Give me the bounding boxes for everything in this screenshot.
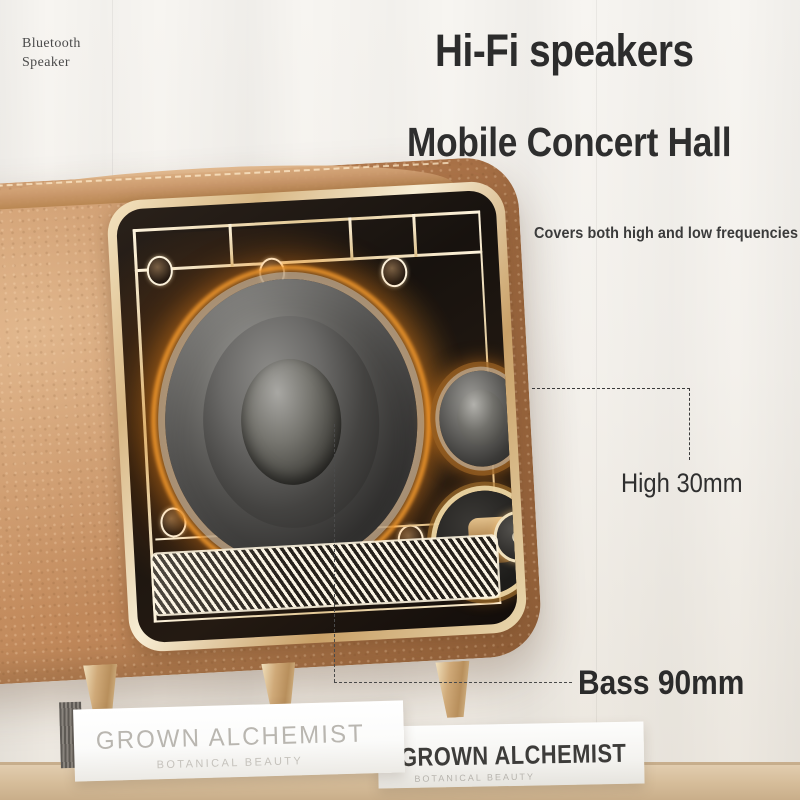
faceplate-interior	[116, 190, 519, 644]
power-icon	[509, 527, 519, 547]
product-box-front: GROWN ALCHEMIST BOTANICAL BEAUTY	[73, 700, 405, 781]
brand-label: Bluetooth Speaker	[22, 35, 81, 73]
product-box-front-subtitle: BOTANICAL BEAUTY	[156, 755, 303, 771]
headline-secondary: Mobile Concert Hall	[407, 122, 731, 163]
speaker-faceplate	[106, 180, 528, 653]
callout-line-high-vertical	[689, 388, 690, 460]
brand-label-line1: Bluetooth	[22, 35, 81, 54]
speaker-cabinet	[0, 155, 543, 687]
callout-line-high-horizontal	[532, 388, 690, 389]
headline-primary: Hi-Fi speakers	[435, 28, 694, 73]
callout-line-bass-vertical	[334, 424, 335, 682]
woofer-driver	[158, 272, 425, 571]
callout-label-tweeter: High 30mm	[621, 470, 742, 497]
product-box-back: GROWN ALCHEMIST BOTANICAL BEAUTY	[377, 721, 644, 788]
product-box-back-subtitle: BOTANICAL BEAUTY	[414, 772, 535, 784]
product-box-back-title: GROWN ALCHEMIST	[400, 738, 627, 773]
callout-label-woofer: Bass 90mm	[578, 666, 744, 700]
product-box-front-title: GROWN ALCHEMIST	[96, 719, 366, 756]
callout-line-bass-horizontal	[334, 682, 572, 683]
headline-subtitle: Covers both high and low frequencies	[534, 226, 798, 242]
advertisement-banner: GROWN ALCHEMIST BOTANICAL BEAUTY GROWN A…	[0, 0, 800, 800]
tweeter-dome	[456, 389, 506, 447]
brand-label-line2: Speaker	[22, 54, 81, 73]
